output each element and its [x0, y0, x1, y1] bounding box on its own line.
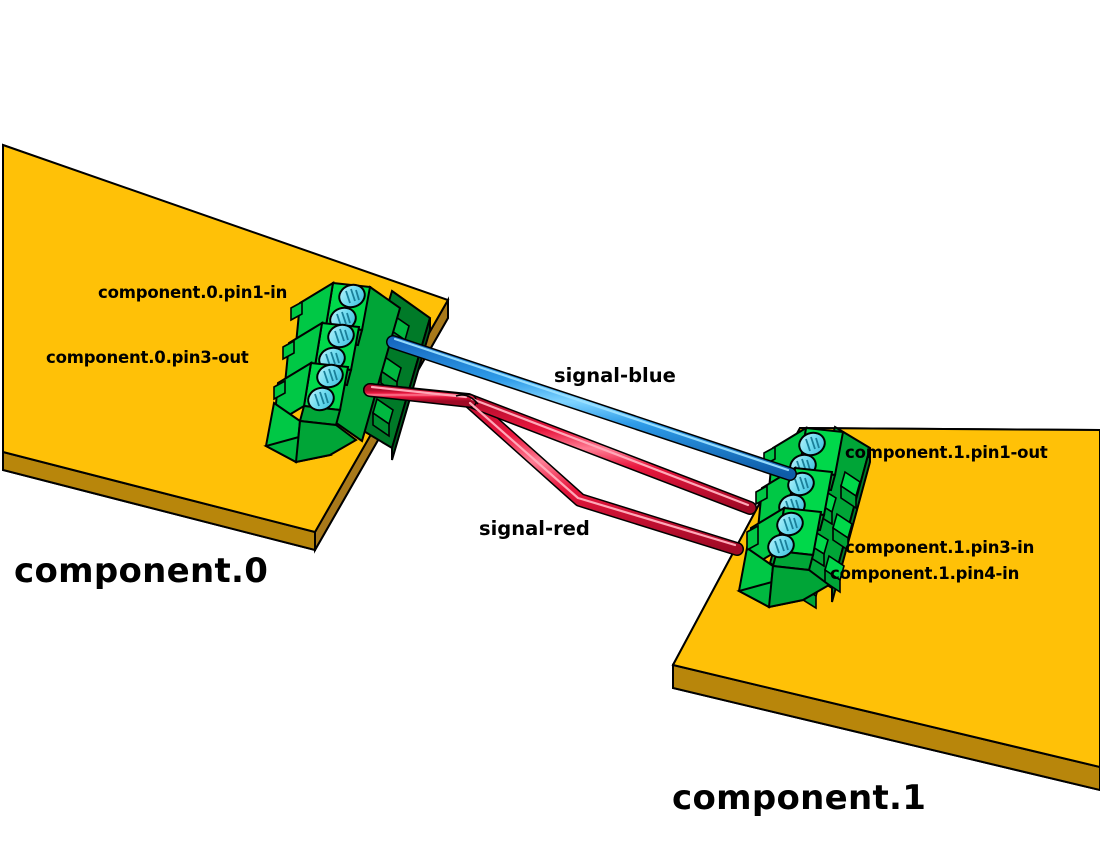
board-1-top-face: [673, 428, 1100, 767]
board-component-1: [673, 428, 1100, 790]
scene-svg: [0, 0, 1100, 850]
connector-component-0[interactable]: [266, 281, 430, 462]
diagram-canvas: component.0.pin1-in component.0.pin3-out…: [0, 0, 1100, 850]
wire-signal-red[interactable]: [370, 387, 750, 549]
